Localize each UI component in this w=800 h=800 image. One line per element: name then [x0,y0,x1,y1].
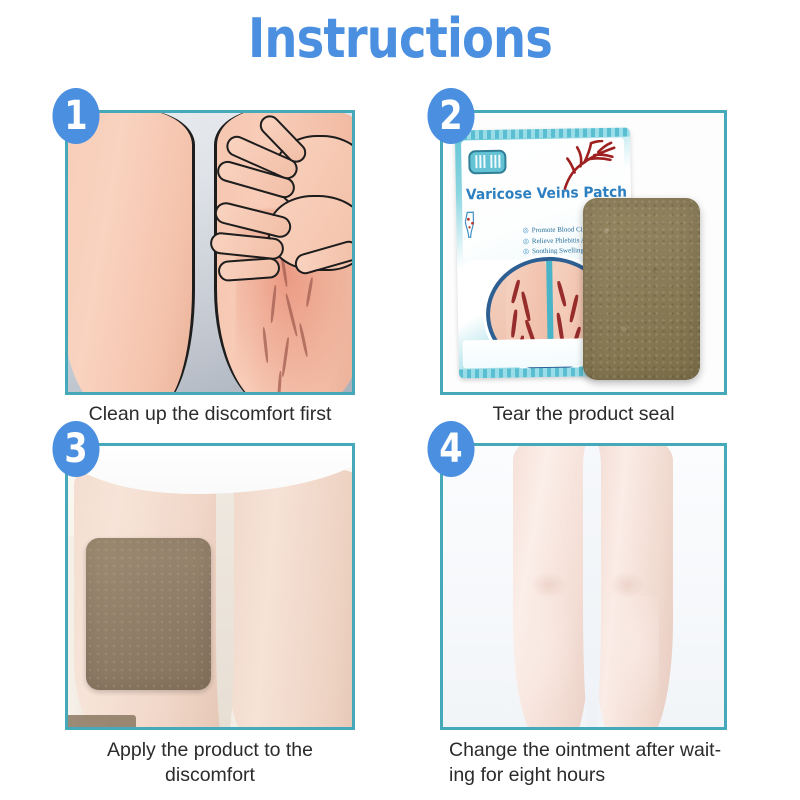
step-badge-2: 2 [427,88,474,144]
step-caption-4: Change the ointment after wait- ing for … [449,738,749,788]
applied-patch [86,538,211,690]
step-caption-2: Tear the product seal [440,402,727,427]
step-caption-4-line1: Change the ointment after wait- [449,738,749,763]
left-calf-highlight [517,596,577,716]
step-badge-3: 3 [52,421,99,477]
step-badge-4: 4 [427,421,474,477]
step-caption-1: Clean up the discomfort first [65,402,355,427]
step-3-photo [68,446,352,727]
step-2-photo: Varicose Veins Patch Promote Blood Circu… [443,113,724,392]
patch-strip-bottom [68,715,136,727]
between-legs-gap [216,460,234,727]
step-panel-3 [65,443,355,730]
finger [217,257,280,282]
step-panel-4 [440,443,727,730]
brand-logo-icon [468,150,506,175]
page-title: Instructions [56,8,744,70]
right-calf-highlight [599,596,659,716]
step-panel-1 [65,110,355,395]
vein-tree-icon [558,140,621,191]
instructions-page: Instructions [0,0,800,800]
step-4-photo [443,446,724,727]
step-panel-2: Varicose Veins Patch Promote Blood Circu… [440,110,727,395]
step-1-illustration [68,113,352,392]
step-caption-4-line2: ing for eight hours [449,763,749,788]
product-patch [583,198,700,380]
step-badge-1: 1 [52,88,99,144]
step-caption-3: Apply the product to the discomfort [60,738,360,788]
left-leg-illustration [68,113,195,392]
leg-icon [462,210,479,240]
right-knee-shadow [609,572,645,598]
right-thigh [226,468,352,727]
left-knee-shadow [531,572,567,598]
